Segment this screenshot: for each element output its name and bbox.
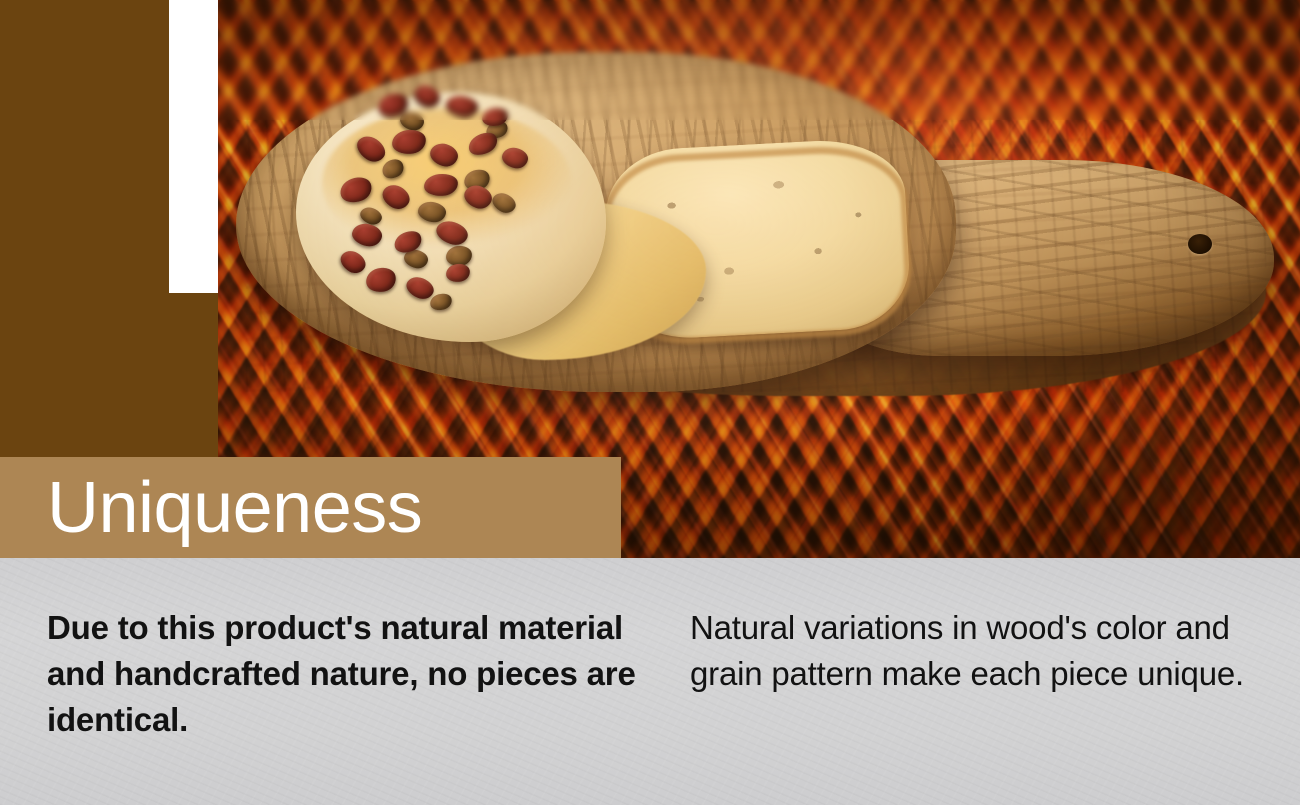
description-left-text: Due to this product's natural material a… xyxy=(47,605,667,743)
description-right-column: Natural variations in wood's color and g… xyxy=(690,605,1250,697)
description-left-column: Due to this product's natural material a… xyxy=(47,605,667,743)
baked-brie xyxy=(296,82,626,352)
olive-wood-board xyxy=(236,52,1276,420)
page-title: Uniqueness xyxy=(47,457,607,558)
board-hang-hole xyxy=(1188,234,1212,254)
description-right-text: Natural variations in wood's color and g… xyxy=(690,605,1250,697)
slide-canvas: Uniqueness Due to this product's natural… xyxy=(0,0,1300,805)
white-accent-strip xyxy=(169,0,218,293)
